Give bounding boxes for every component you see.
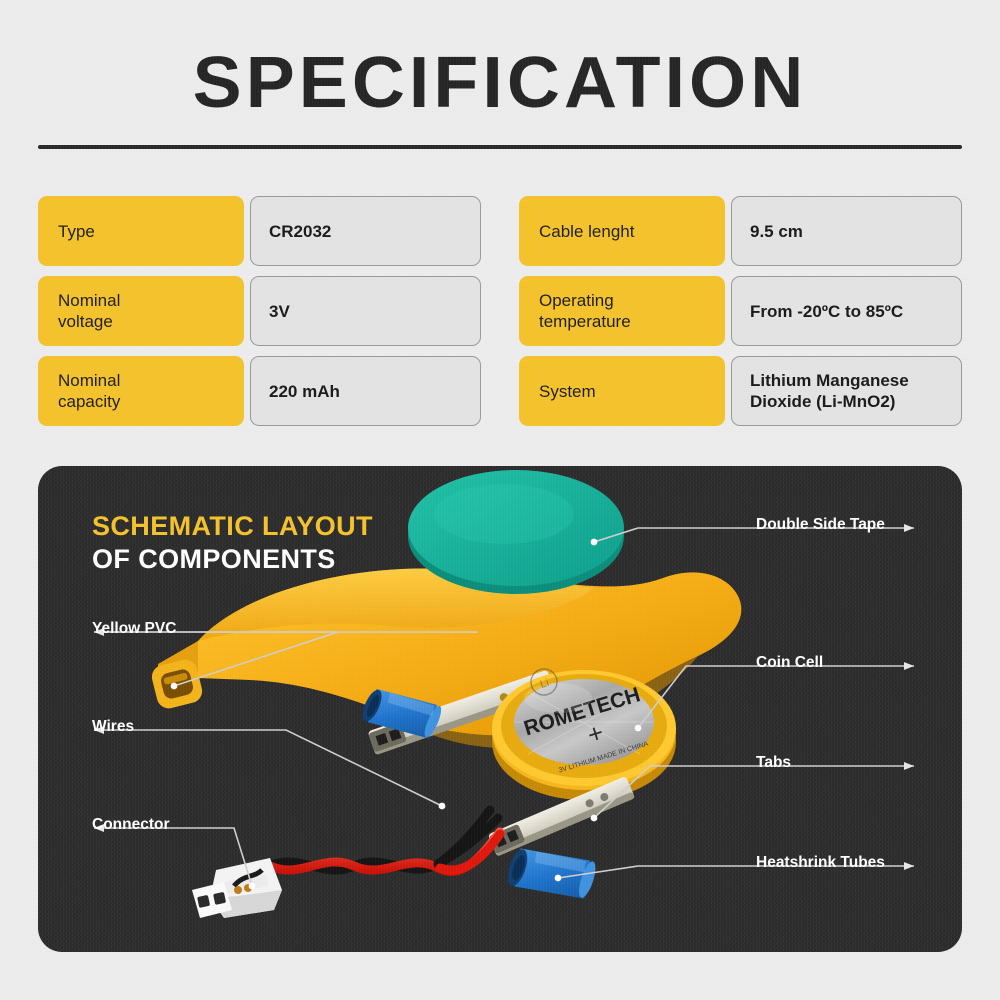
spec-label: Nominalcapacity xyxy=(38,356,244,426)
callout-heatshrink-tubes: Heatshrink Tubes xyxy=(756,854,885,872)
spec-value: 3V xyxy=(250,276,481,346)
spec-label: Type xyxy=(38,196,244,266)
callout-connector: Connector xyxy=(92,816,170,834)
table-row: Type CR2032 xyxy=(38,196,481,266)
spec-column-right: Cable lenght 9.5 cm Operatingtemperature… xyxy=(519,196,962,426)
spec-value: 9.5 cm xyxy=(731,196,962,266)
table-row: System Lithium Manganese Dioxide (Li-MnO… xyxy=(519,356,962,426)
table-row: Operatingtemperature From -20ºC to 85ºC xyxy=(519,276,962,346)
page-title: SPECIFICATION xyxy=(0,44,1000,122)
table-row: Cable lenght 9.5 cm xyxy=(519,196,962,266)
spec-label: System xyxy=(519,356,725,426)
table-row: Nominalvoltage 3V xyxy=(38,276,481,346)
wires-part xyxy=(270,810,500,871)
double-side-tape-part xyxy=(408,470,624,594)
spec-label: Cable lenght xyxy=(519,196,725,266)
connector-part xyxy=(192,858,282,918)
spec-value: From -20ºC to 85ºC xyxy=(731,276,962,346)
table-row: Nominalcapacity 220 mAh xyxy=(38,356,481,426)
spec-value: 220 mAh xyxy=(250,356,481,426)
specification-table: Type CR2032 Nominalvoltage 3V Nominalcap… xyxy=(38,196,962,426)
exploded-diagram: ROMETECH + 3V LITHIUM MADE IN CHINA Li xyxy=(38,466,962,952)
spec-value: CR2032 xyxy=(250,196,481,266)
spec-value: Lithium Manganese Dioxide (Li-MnO2) xyxy=(731,356,962,426)
schematic-panel: SCHEMATIC LAYOUT OF COMPONENTS xyxy=(38,466,962,952)
callout-yellow-pvc: Yellow PVC xyxy=(92,620,176,638)
callout-double-side-tape: Double Side Tape xyxy=(756,516,885,534)
callout-wires: Wires xyxy=(92,718,134,736)
callout-coin-cell: Coin Cell xyxy=(756,654,823,672)
title-divider xyxy=(38,145,962,149)
spec-column-left: Type CR2032 Nominalvoltage 3V Nominalcap… xyxy=(38,196,481,426)
callout-tabs: Tabs xyxy=(756,754,791,772)
spec-label: Operatingtemperature xyxy=(519,276,725,346)
infographic-page: SPECIFICATION Type CR2032 Nominalvoltage… xyxy=(0,0,1000,1000)
spec-label: Nominalvoltage xyxy=(38,276,244,346)
heatshrink-tube-lower xyxy=(504,837,599,909)
